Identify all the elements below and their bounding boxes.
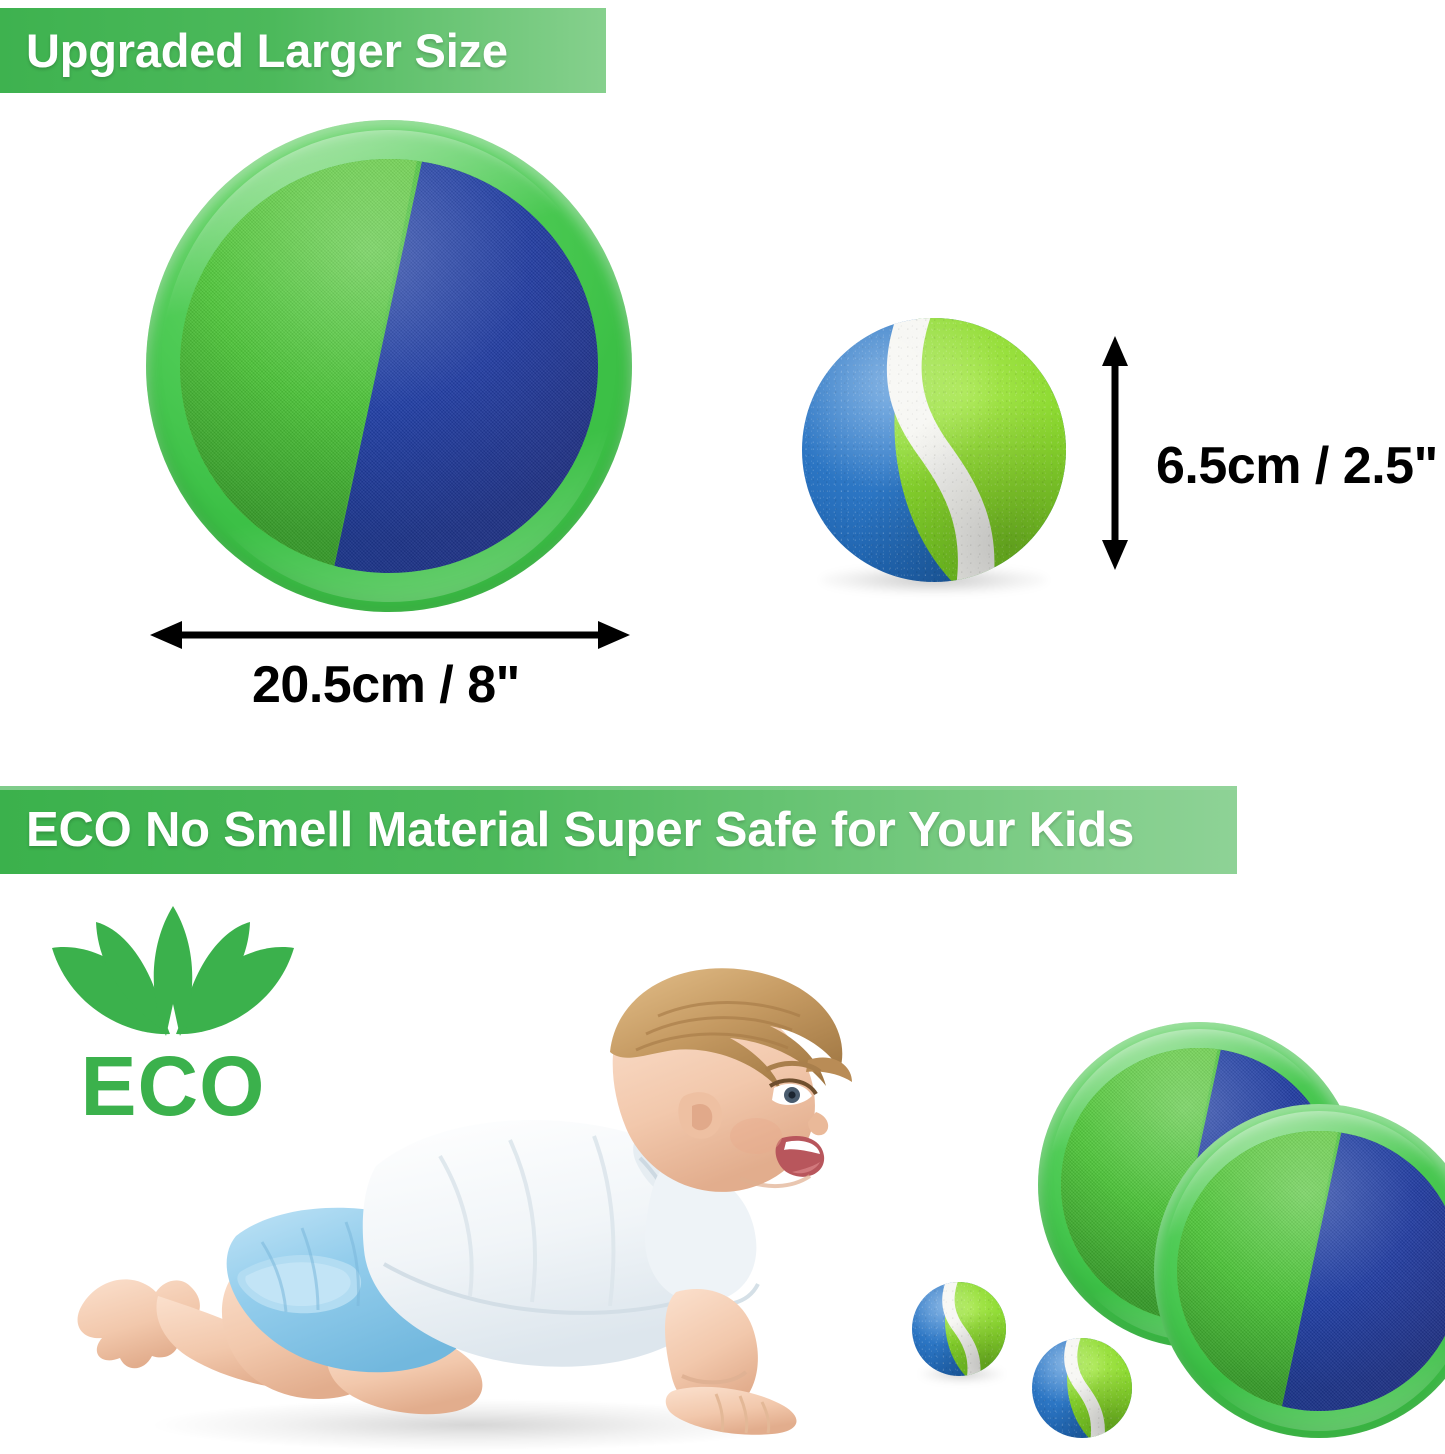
ball-white-seam bbox=[802, 318, 1066, 582]
ball-white-seam bbox=[1032, 1338, 1132, 1438]
feature-banner-upgraded-size: Upgraded Larger Size bbox=[0, 8, 606, 93]
ball-small-2 bbox=[1032, 1338, 1132, 1438]
ball-white-seam bbox=[912, 1282, 1006, 1376]
crawling-baby-photo bbox=[40, 920, 920, 1454]
paddle-velcro-surface bbox=[180, 159, 598, 572]
ball-main bbox=[802, 318, 1066, 582]
paddle-velcro-well bbox=[1177, 1131, 1445, 1412]
paddle-velcro-surface bbox=[1177, 1131, 1445, 1412]
paddle-velcro-well bbox=[180, 159, 598, 572]
banner-bottom-text: ECO No Smell Material Super Safe for You… bbox=[26, 802, 1134, 858]
feature-banner-eco-material: ECO No Smell Material Super Safe for You… bbox=[0, 786, 1237, 874]
paddle-main bbox=[146, 120, 632, 612]
ball-small-1 bbox=[912, 1282, 1006, 1376]
paddle-dimension-label: 20.5cm / 8" bbox=[252, 655, 520, 715]
double-arrow-vertical-icon bbox=[1098, 336, 1132, 570]
paddle-front bbox=[1154, 1104, 1445, 1438]
ball-dimension-label: 6.5cm / 2.5" bbox=[1156, 436, 1438, 496]
double-arrow-horizontal-icon bbox=[150, 620, 630, 650]
banner-top-text: Upgraded Larger Size bbox=[26, 23, 508, 78]
product-feature-collage: Upgraded Larger Size 20.5cm / 8" bbox=[0, 0, 1445, 1454]
